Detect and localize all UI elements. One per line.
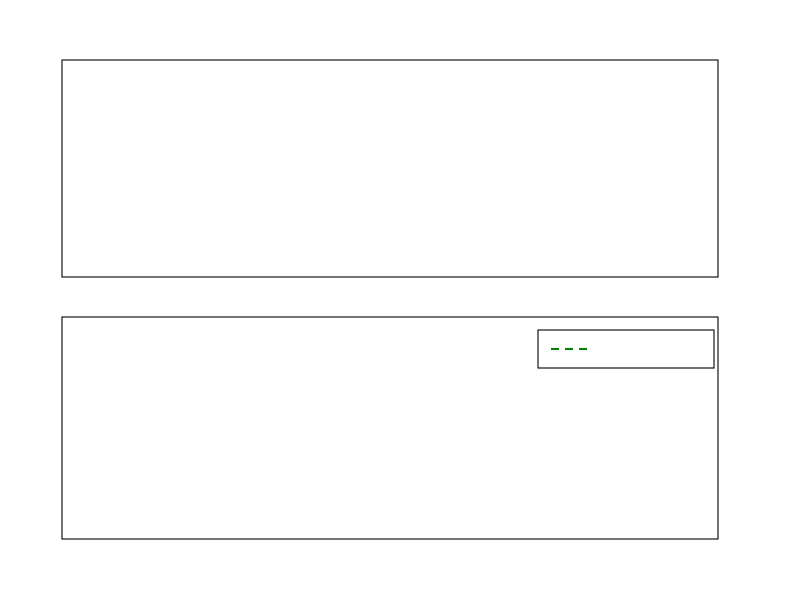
bottom-axes <box>0 0 718 539</box>
figure-canvas <box>0 0 800 600</box>
legend[interactable] <box>538 330 714 368</box>
top-axes <box>62 60 718 277</box>
plot-svg <box>0 0 800 600</box>
legend-box <box>538 330 714 368</box>
top-axes-frame <box>62 60 718 277</box>
